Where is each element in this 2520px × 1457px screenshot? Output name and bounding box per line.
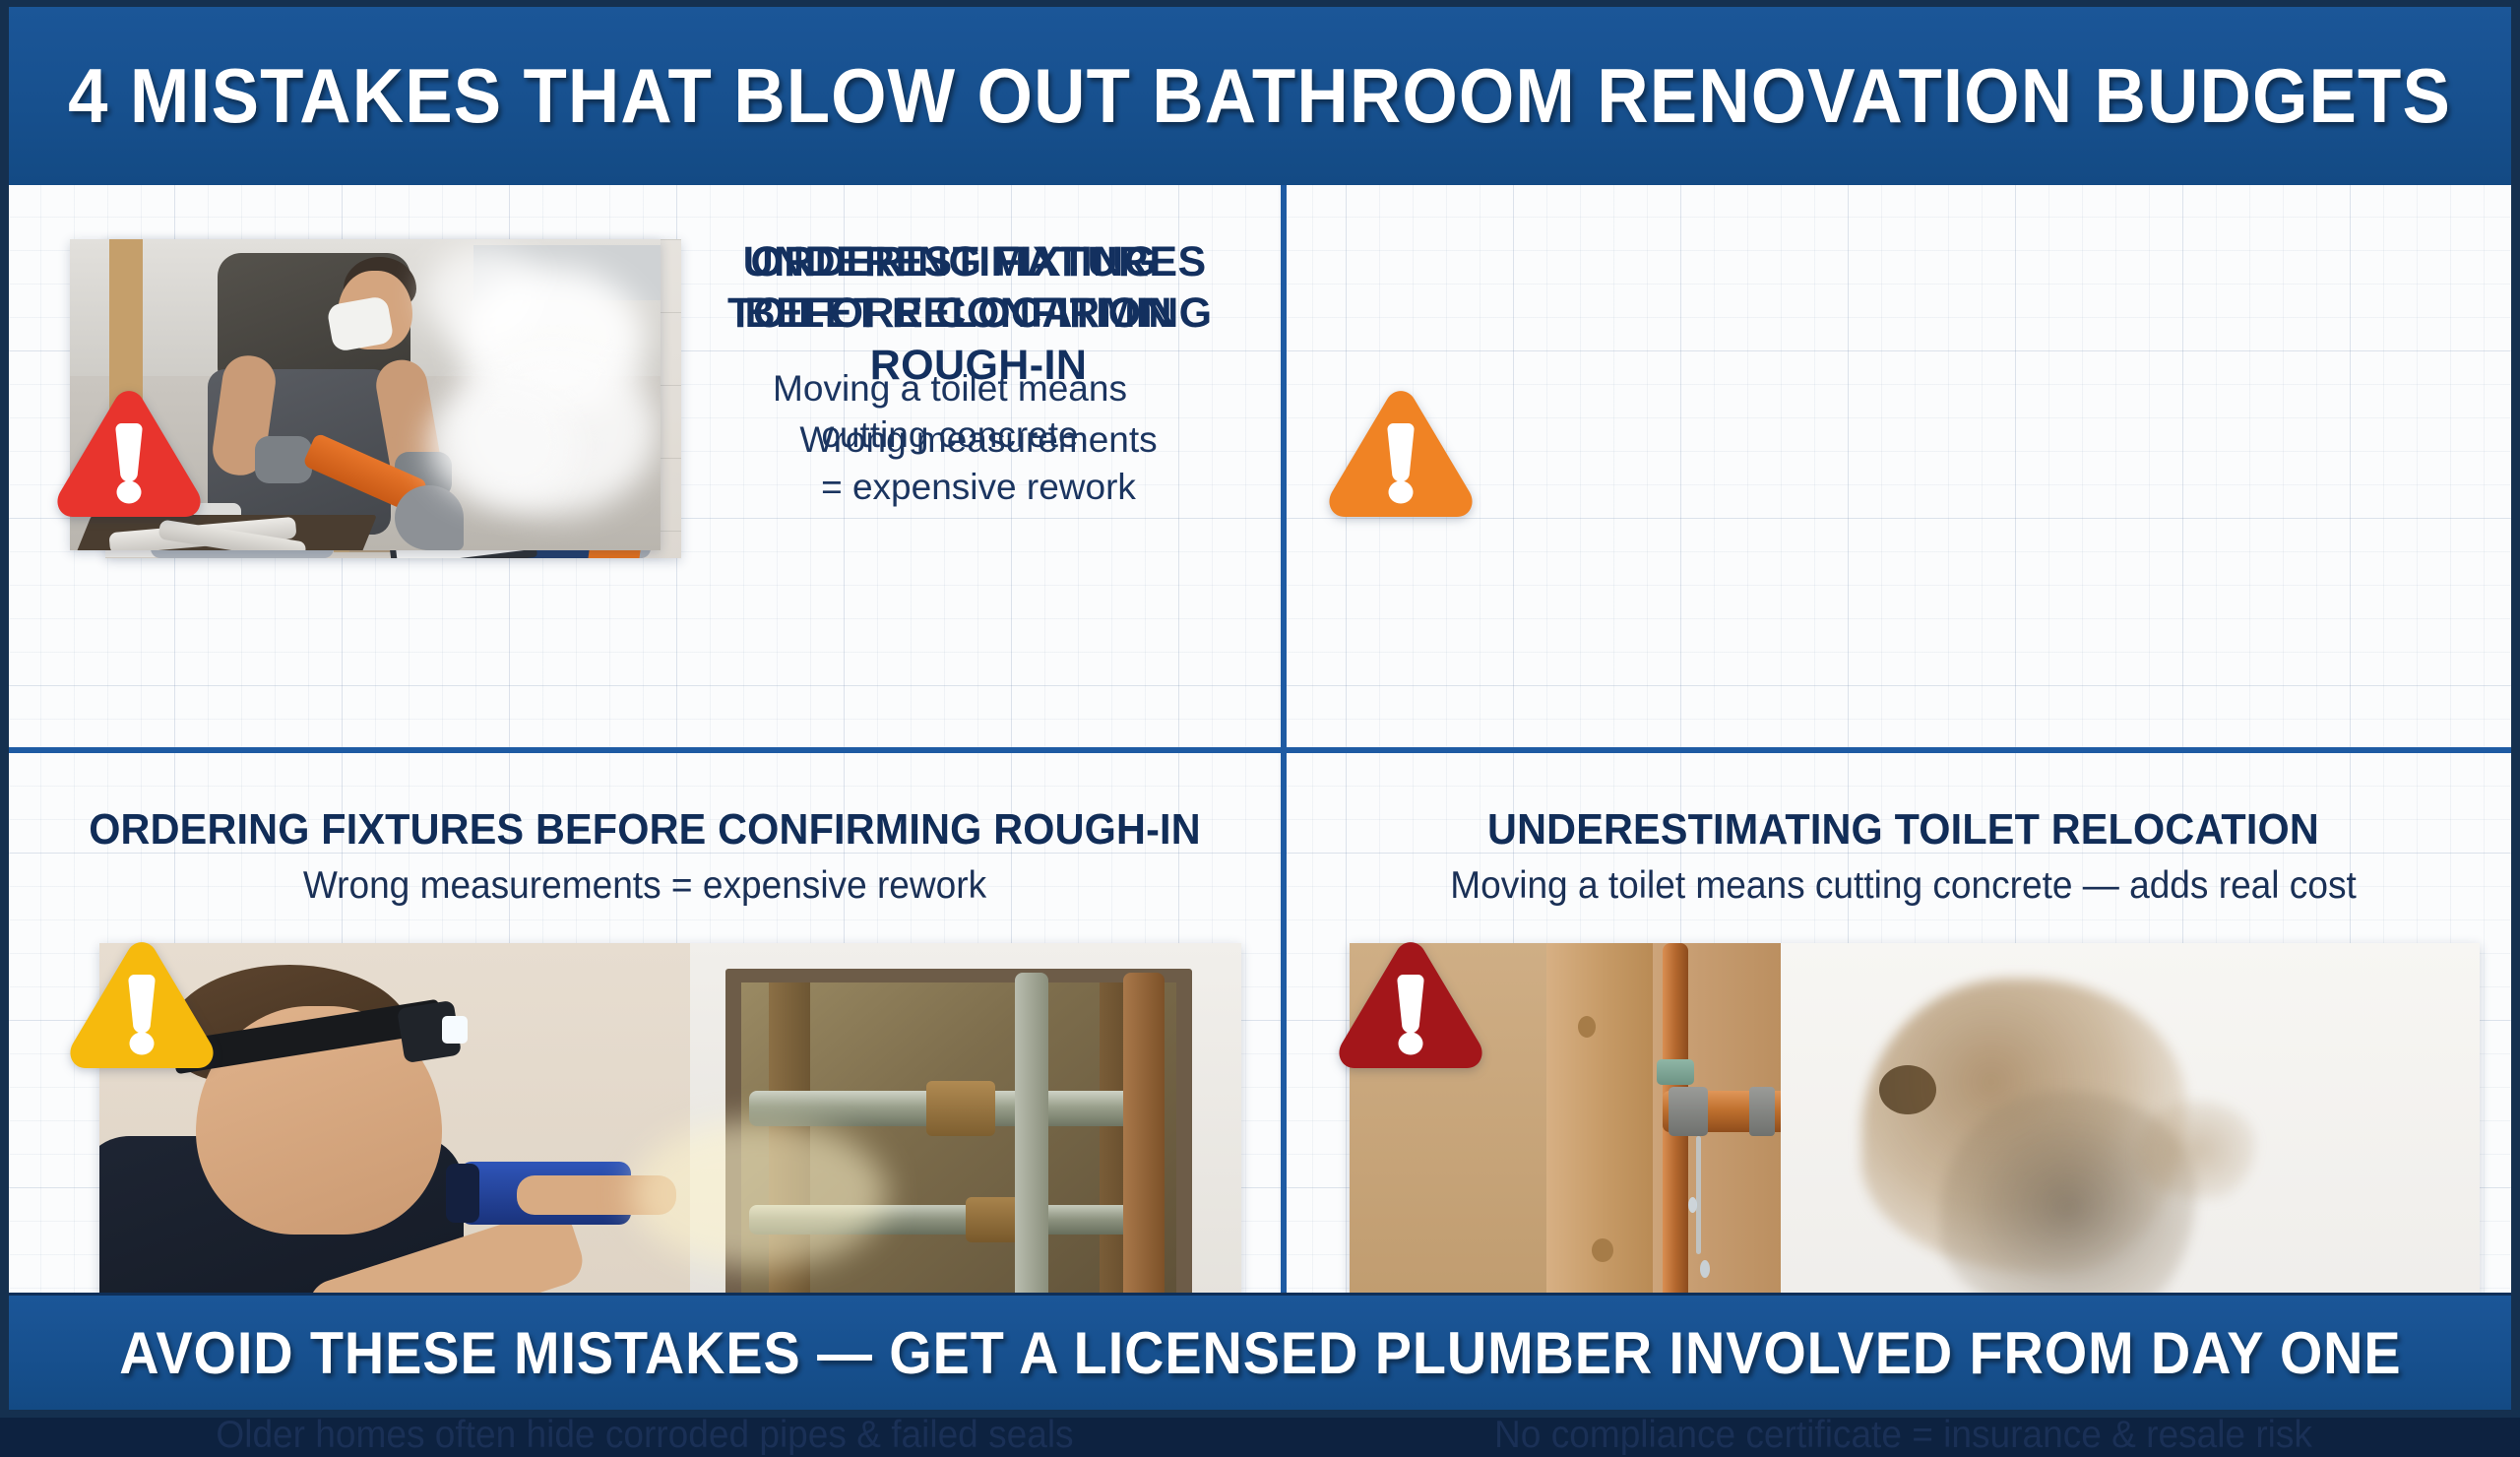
caption-subtitle: Wrong measurements = expensive rework — [40, 864, 1248, 908]
heading-line: TOILET RELOCATION — [674, 287, 1226, 339]
caption-mistake-1: ORDERING FIXTURES BEFORE CONFIRMING ROUG… — [9, 805, 1281, 908]
subtext-line: cutting concrete — [674, 412, 1226, 458]
subtext-line: Moving a toilet means — [674, 365, 1226, 412]
caption-mistake-2: UNDERESTIMATING TOILET RELOCATION Moving… — [1287, 805, 2520, 908]
mistake-2-subtext: Moving a toilet means cutting concrete — [674, 365, 1226, 459]
divider-horizontal — [9, 747, 2511, 753]
caption-subtitle: Moving a toilet means cutting concrete —… — [1317, 864, 2488, 908]
warning-triangle-icon — [63, 937, 220, 1080]
warning-triangle-icon — [50, 386, 208, 529]
mistake-2-heading: UNDERESTIMATING TOILET RELOCATION — [674, 236, 1226, 340]
caption-subtitle: Older homes often hide corroded pipes & … — [40, 1414, 1248, 1457]
heading-line: UNDERESTIMATING — [674, 236, 1226, 287]
content-area: ORDERING FIXTURES BEFORE CONFIRMING ROUG… — [9, 185, 2511, 1296]
infographic-canvas: 4 MISTAKES THAT BLOW OUT BATHROOM RENOVA… — [0, 0, 2520, 1418]
header-banner: 4 MISTAKES THAT BLOW OUT BATHROOM RENOVA… — [9, 7, 2511, 188]
mistake-2-text: UNDERESTIMATING TOILET RELOCATION Moving… — [674, 236, 1226, 459]
photo-behind-the-wall — [99, 943, 1241, 1330]
warning-triangle-icon — [1332, 937, 1489, 1080]
subtext-line: = expensive rework — [698, 464, 1259, 510]
footer-callout: AVOID THESE MISTAKES — GET A LICENSED PL… — [119, 1319, 2401, 1387]
photo-unlicensed-plumber — [1350, 943, 2480, 1330]
caption-title: ORDERING FIXTURES BEFORE CONFIRMING ROUG… — [47, 805, 1242, 855]
caption-subtitle: No compliance certificate = insurance & … — [1317, 1414, 2488, 1457]
footer-banner: AVOID THESE MISTAKES — GET A LICENSED PL… — [9, 1293, 2511, 1410]
warning-triangle-icon — [1322, 386, 1480, 529]
page-title: 4 MISTAKES THAT BLOW OUT BATHROOM RENOVA… — [69, 51, 2452, 141]
divider-vertical — [1281, 185, 1287, 1296]
caption-title: UNDERESTIMATING TOILET RELOCATION — [1324, 805, 2484, 855]
